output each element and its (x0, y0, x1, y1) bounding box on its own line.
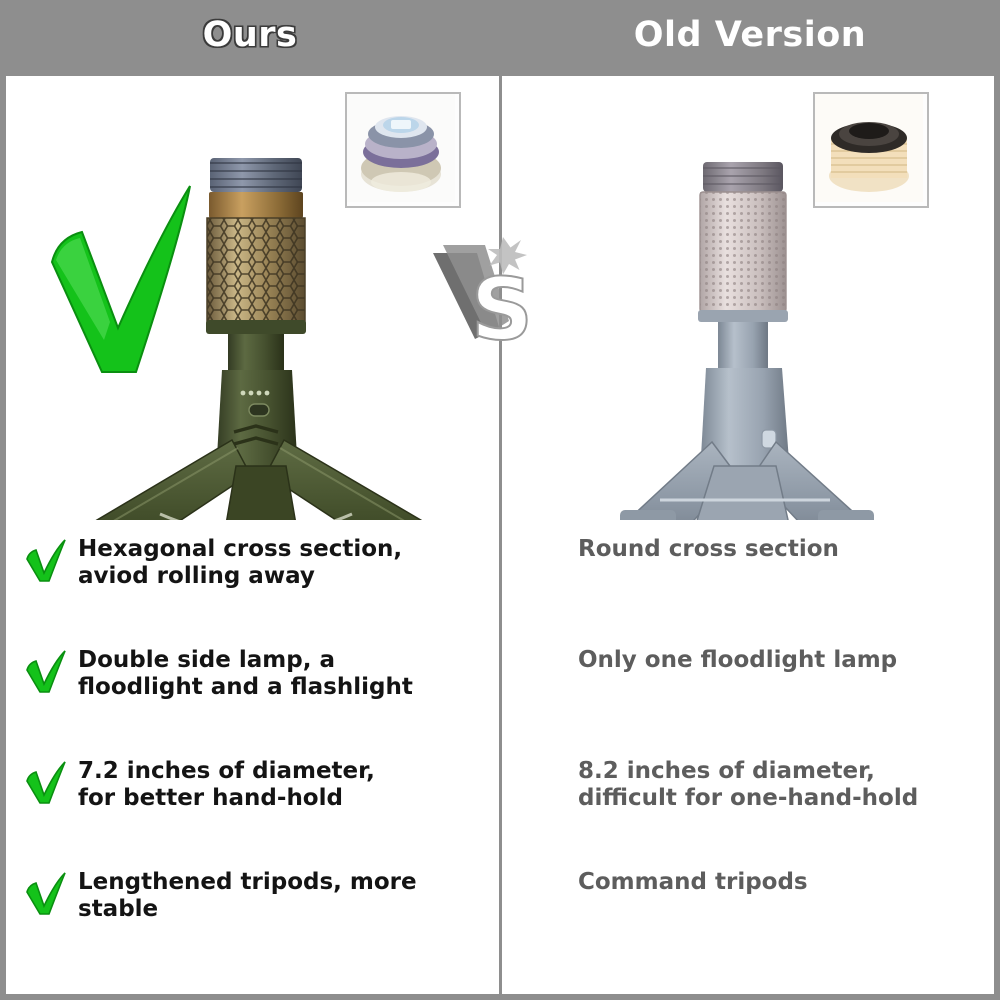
comparison-image: Ours Old Version (0, 0, 1000, 1000)
green-check-icon (24, 760, 68, 804)
old-product-stage (500, 70, 1000, 520)
old-feature-1: Round cross section (578, 536, 1000, 563)
ours-top-view-icon (347, 94, 455, 202)
ours-feature-3: 7.2 inches of diameter, for better hand-… (24, 758, 494, 812)
vs-label: S (471, 260, 533, 355)
vs-icon: S (425, 235, 575, 355)
header-band: Ours Old Version (0, 0, 1000, 70)
ours-feature-1-text: Hexagonal cross section, aviod rolling a… (78, 536, 402, 590)
green-check-icon (24, 871, 68, 915)
old-feature-2-text: Only one floodlight lamp (578, 647, 897, 674)
header-left: Ours (0, 0, 500, 70)
old-feature-4-text: Command tripods (578, 869, 808, 896)
ours-feature-list: Hexagonal cross section, aviod rolling a… (0, 530, 500, 1000)
ours-feature-3-text: 7.2 inches of diameter, for better hand-… (78, 758, 375, 812)
old-version-title: Old Version (634, 15, 866, 55)
old-version-column: Round cross section Only one floodlight … (500, 70, 1000, 1000)
old-feature-1-text: Round cross section (578, 536, 839, 563)
old-top-view-icon (815, 94, 923, 202)
ours-feature-2: Double side lamp, a floodlight and a fla… (24, 647, 494, 701)
green-check-icon (40, 180, 200, 380)
green-check-icon (24, 538, 68, 582)
header-right: Old Version (500, 0, 1000, 70)
ours-detail-inset (345, 92, 461, 208)
old-feature-list: Round cross section Only one floodlight … (500, 530, 1000, 1000)
old-feature-3: 8.2 inches of diameter, difficult for on… (578, 758, 1000, 812)
old-detail-inset (813, 92, 929, 208)
green-check-icon (24, 649, 68, 693)
column-divider (499, 70, 502, 1000)
vs-badge: S (425, 235, 575, 355)
old-feature-3-text: 8.2 inches of diameter, difficult for on… (578, 758, 918, 812)
ours-column: Hexagonal cross section, aviod rolling a… (0, 70, 500, 1000)
ours-feature-4: Lengthened tripods, more stable (24, 869, 494, 923)
old-feature-4: Command tripods (578, 869, 1000, 896)
old-feature-2: Only one floodlight lamp (578, 647, 1000, 674)
ours-feature-2-text: Double side lamp, a floodlight and a fla… (78, 647, 413, 701)
ours-title: Ours (203, 15, 298, 55)
ours-feature-4-text: Lengthened tripods, more stable (78, 869, 417, 923)
ours-hero-check (40, 180, 200, 380)
ours-feature-1: Hexagonal cross section, aviod rolling a… (24, 536, 494, 590)
